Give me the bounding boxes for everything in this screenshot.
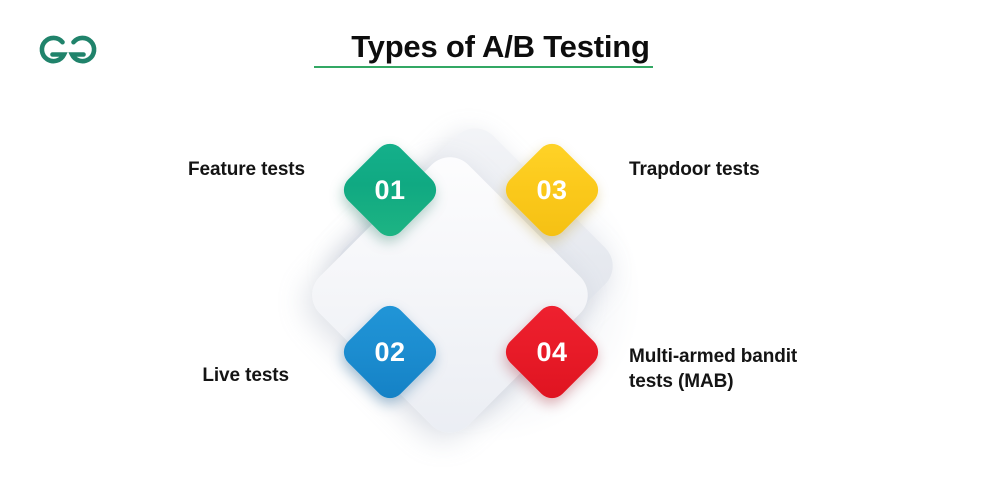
diamond-diagram: 01 02 03 04 — [250, 95, 720, 495]
label-mab-line-2: tests (MAB) — [629, 369, 889, 394]
diamond-tile-02[interactable]: 02 — [338, 300, 443, 405]
diamond-number-01: 01 — [353, 153, 427, 227]
infographic-canvas: Types of A/B Testing 01 02 03 04 Feature… — [0, 0, 1001, 501]
label-multi-armed-bandit-tests: Multi-armed bandit tests (MAB) — [629, 344, 889, 394]
page-title: Types of A/B Testing — [349, 28, 652, 66]
diamond-number-03: 03 — [515, 153, 589, 227]
diamond-tile-03[interactable]: 03 — [500, 138, 605, 243]
diamond-number-02: 02 — [353, 315, 427, 389]
diamond-tile-04[interactable]: 04 — [500, 300, 605, 405]
diamond-number-04: 04 — [515, 315, 589, 389]
diamond-tile-01[interactable]: 01 — [338, 138, 443, 243]
label-trapdoor-tests: Trapdoor tests — [629, 157, 929, 182]
page-title-block: Types of A/B Testing — [0, 28, 1001, 66]
label-feature-tests: Feature tests — [45, 157, 305, 182]
label-mab-line-1: Multi-armed bandit — [629, 344, 889, 369]
label-live-tests: Live tests — [29, 363, 289, 388]
title-underline — [314, 66, 653, 68]
